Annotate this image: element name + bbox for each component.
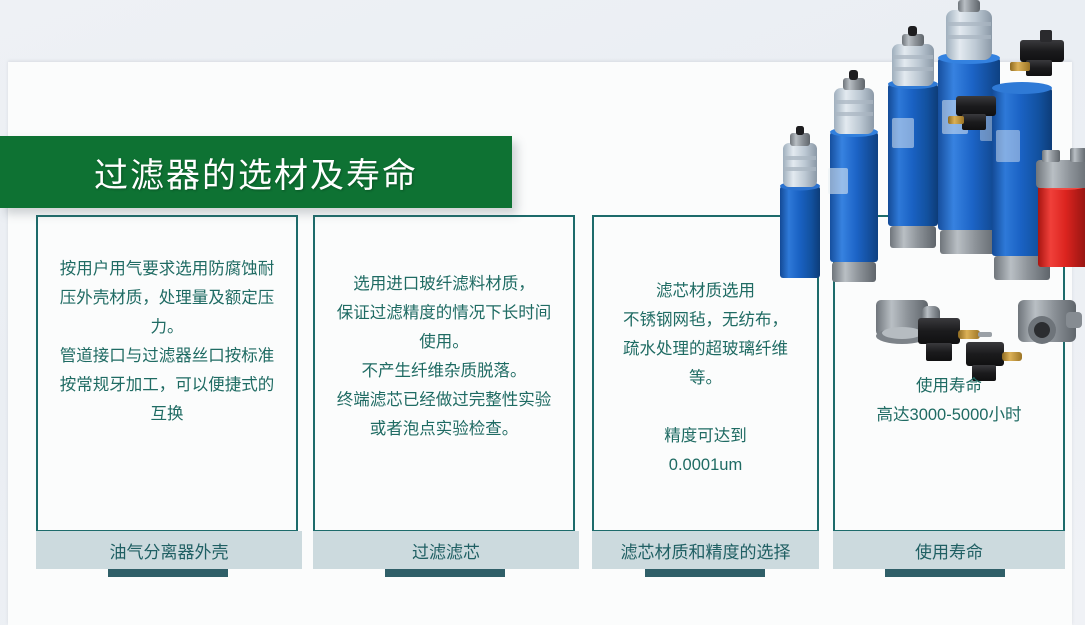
slide-canvas: 过滤器的选材及寿命 按用户用气要求选用防腐蚀耐压外壳材质，处理量及额定压力。 管…	[0, 0, 1085, 625]
card-label-text: 滤芯材质和精度的选择	[621, 538, 791, 563]
card-label-service-life: 使用寿命	[833, 531, 1065, 569]
card-label-text: 过滤滤芯	[412, 538, 480, 563]
card-label-underline	[885, 569, 1005, 577]
card-label-text: 使用寿命	[915, 538, 983, 563]
card-body-text: 按用户用气要求选用防腐蚀耐压外壳材质，处理量及额定压力。 管道接口与过滤器丝口按…	[38, 255, 296, 429]
card-label-filter-element: 过滤滤芯	[313, 531, 579, 569]
card-body-text: 使用寿命 高达3000-5000小时	[835, 372, 1063, 430]
card-body-text: 滤芯材质选用 不锈钢网毡，无纺布， 疏水处理的超玻璃纤维等。 精度可达到 0.0…	[594, 277, 817, 480]
card-label-underline	[385, 569, 505, 577]
feature-card-service-life: 使用寿命 高达3000-5000小时	[833, 215, 1065, 532]
feature-card-filter-element: 选用进口玻纤滤料材质， 保证过滤精度的情况下长时间使用。 不产生纤维杂质脱落。 …	[313, 215, 575, 532]
card-label-text: 油气分离器外壳	[110, 538, 229, 563]
card-label-underline	[645, 569, 765, 577]
card-label-oil-gas-separator-shell: 油气分离器外壳	[36, 531, 302, 569]
feature-card-material-and-precision: 滤芯材质选用 不锈钢网毡，无纺布， 疏水处理的超玻璃纤维等。 精度可达到 0.0…	[592, 215, 819, 532]
card-body-text: 选用进口玻纤滤料材质， 保证过滤精度的情况下长时间使用。 不产生纤维杂质脱落。 …	[315, 270, 573, 444]
page-title: 过滤器的选材及寿命	[94, 148, 418, 197]
section-title-banner: 过滤器的选材及寿命	[0, 136, 512, 208]
card-label-material-and-precision: 滤芯材质和精度的选择	[592, 531, 819, 569]
card-label-underline	[108, 569, 228, 577]
feature-cards: 按用户用气要求选用防腐蚀耐压外壳材质，处理量及额定压力。 管道接口与过滤器丝口按…	[0, 215, 1085, 575]
feature-card-oil-gas-separator-shell: 按用户用气要求选用防腐蚀耐压外壳材质，处理量及额定压力。 管道接口与过滤器丝口按…	[36, 215, 298, 532]
